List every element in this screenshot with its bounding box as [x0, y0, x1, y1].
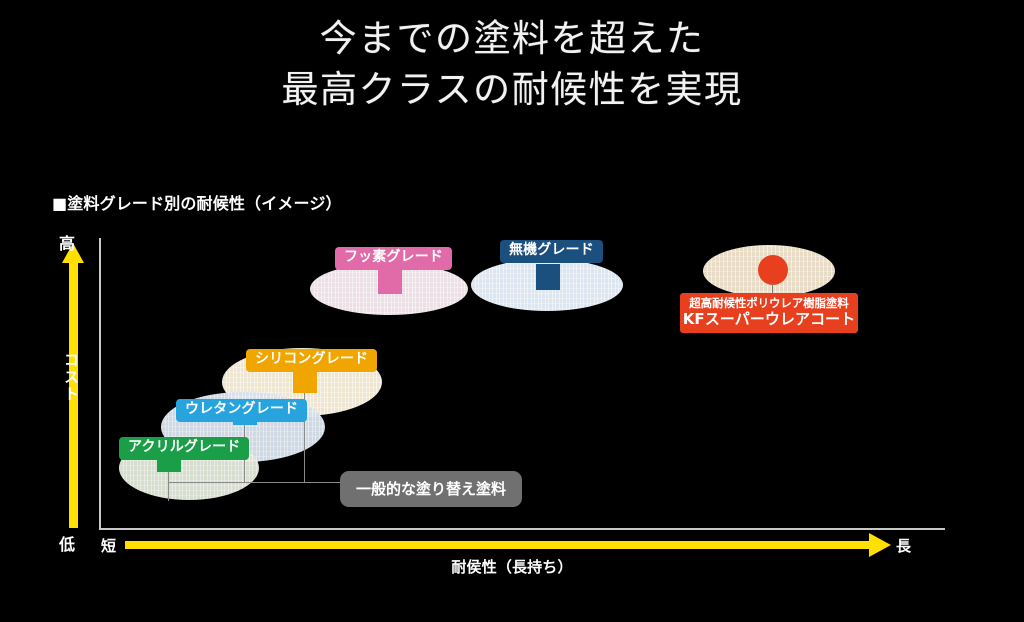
x-axis-left-label: 短 — [101, 535, 116, 556]
y-axis-top-label: 高 — [59, 230, 75, 254]
marker-inorganic — [536, 264, 560, 290]
label-acrylic-text: アクリルグレード — [128, 439, 240, 455]
label-silicone: シリコングレード — [246, 349, 377, 372]
product-tagline: 超高耐候性ポリウレア樹脂塗料 — [680, 296, 858, 310]
label-fluorine-text: フッ素グレード — [344, 249, 443, 265]
callout-general-repaint: 一般的な塗り替え塗料 — [340, 471, 522, 507]
x-axis-arrowhead-icon — [869, 533, 891, 557]
x-axis-right-label: 長 — [896, 535, 911, 556]
connector-line-horizontal — [168, 482, 348, 483]
page-title-line-1: 今までの塗料を超えた — [0, 14, 1024, 65]
y-axis-bottom-label: 低 — [59, 531, 75, 555]
product-name: KFスーパーウレアコート — [680, 310, 858, 329]
label-silicone-text: シリコングレード — [255, 351, 368, 367]
label-fluorine: フッ素グレード — [335, 247, 452, 270]
label-inorganic-text: 無機グレード — [509, 242, 594, 258]
x-axis-title: 耐侯性（長持ち） — [0, 556, 1024, 577]
slide-canvas: 今までの塗料を超えた 最高クラスの耐候性を実現 ■塗料グレード別の耐候性（イメー… — [0, 0, 1024, 622]
page-title: 今までの塗料を超えた 最高クラスの耐候性を実現 — [0, 14, 1024, 116]
x-axis-arrow — [125, 541, 873, 549]
label-urethane-text: ウレタングレード — [185, 401, 298, 417]
marker-fluorine — [378, 268, 402, 294]
chart-subtitle: ■塗料グレード別の耐候性（イメージ） — [52, 190, 342, 214]
label-inorganic: 無機グレード — [500, 240, 603, 263]
marker-kf-super-urea-coat — [758, 255, 788, 285]
y-axis-title: コスト — [18, 352, 82, 402]
label-acrylic: アクリルグレード — [119, 437, 249, 460]
label-urethane: ウレタングレード — [176, 399, 307, 422]
page-title-line-2: 最高クラスの耐候性を実現 — [0, 65, 1024, 116]
product-label-kf-super-urea-coat: 超高耐候性ポリウレア樹脂塗料 KFスーパーウレアコート — [680, 293, 858, 333]
callout-text: 一般的な塗り替え塗料 — [356, 480, 506, 498]
